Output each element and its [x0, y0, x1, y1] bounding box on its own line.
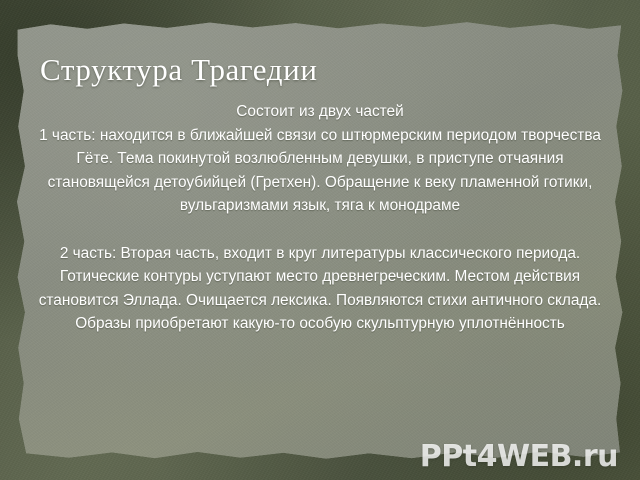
- body-paragraph-1: 1 часть: находится в ближайшей связи со …: [26, 124, 614, 218]
- body-paragraph-2: 2 часть: Вторая часть, входит в круг лит…: [26, 242, 614, 336]
- site-watermark: PPt4WEB.ru: [420, 440, 618, 474]
- slide-content: Структура Трагедии Состоит из двух часте…: [0, 0, 640, 480]
- slide-title: Структура Трагедии: [40, 52, 318, 88]
- paragraph-spacer: [26, 218, 614, 242]
- presentation-slide: Структура Трагедии Состоит из двух часте…: [0, 0, 640, 480]
- slide-body: Состоит из двух частей 1 часть: находитс…: [26, 100, 614, 336]
- body-intro-line: Состоит из двух частей: [26, 100, 614, 124]
